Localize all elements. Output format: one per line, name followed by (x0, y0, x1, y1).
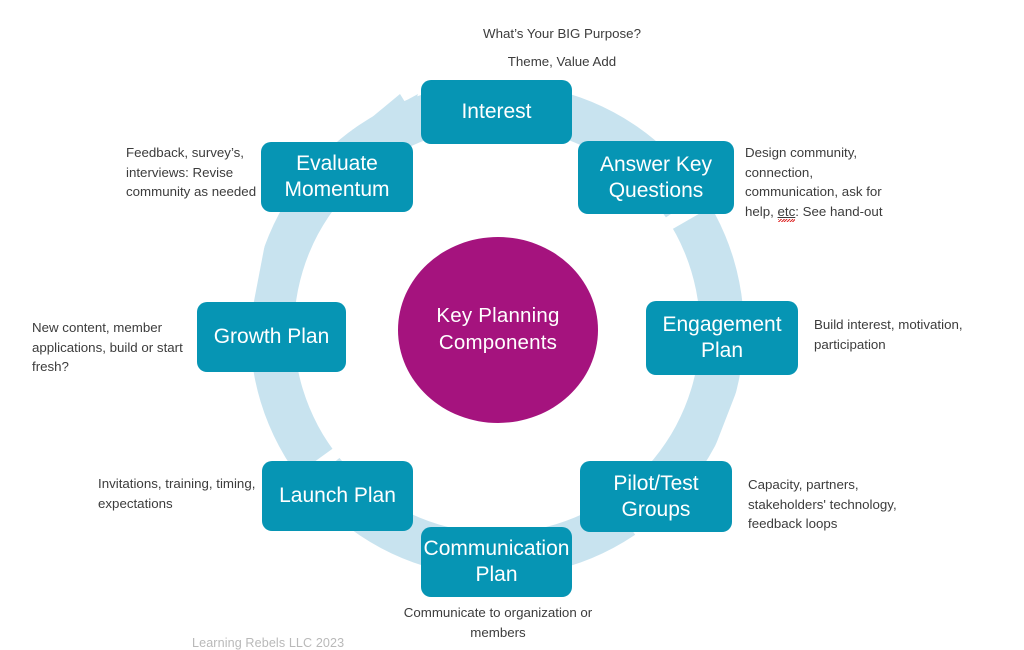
annotation-pilot-line3: feedback loops (748, 514, 928, 534)
node-communication-line1: Communication (424, 537, 570, 560)
node-engagement-plan-label: Engagement Plan (662, 312, 781, 363)
node-answer-line1: Answer Key (600, 153, 712, 176)
center-hub-label-line2: Components (439, 331, 557, 354)
node-communication-plan[interactable]: Communication Plan (421, 527, 572, 597)
node-engagement-plan[interactable]: Engagement Plan (646, 301, 798, 375)
center-hub-label: Key Planning Components (436, 303, 559, 356)
annotation-answer-line4-post: : See hand-out (795, 204, 882, 219)
center-hub-label-line1: Key Planning (436, 304, 559, 327)
annotation-growth-line3: fresh? (32, 357, 192, 377)
node-evaluate-momentum-label: Evaluate Momentum (284, 151, 389, 202)
node-interest[interactable]: Interest (421, 80, 572, 144)
annotation-answer-key-questions: Design community, connection, communicat… (745, 143, 915, 221)
annotation-communication-line1: Communicate to organization or (398, 603, 598, 623)
footer-credit: Learning Rebels LLC 2023 (192, 636, 344, 650)
annotation-engagement-plan: Build interest, motivation, participatio… (814, 315, 994, 354)
annotation-pilot-line1: Capacity, partners, (748, 475, 928, 495)
annotation-communication-plan: Communicate to organization or members (398, 603, 598, 642)
node-communication-line2: Plan (475, 563, 517, 586)
node-engagement-line1: Engagement (662, 313, 781, 336)
annotation-evaluate-line1: Feedback, survey’s, (126, 143, 266, 163)
node-engagement-line2: Plan (701, 339, 743, 362)
annotation-answer-line2: connection, (745, 163, 915, 183)
annotation-answer-misspelled-word: etc (778, 204, 796, 219)
annotation-pilot-line2: stakeholders' technology, (748, 495, 928, 515)
node-answer-key-questions-label: Answer Key Questions (600, 152, 712, 203)
annotation-evaluate-line3: community as needed (126, 182, 266, 202)
node-interest-label: Interest (461, 99, 531, 125)
annotation-growth-line1: New content, member (32, 318, 192, 338)
node-answer-line2: Questions (609, 179, 704, 202)
annotation-growth-line2: applications, build or start (32, 338, 192, 358)
annotation-evaluate-line2: interviews: Revise (126, 163, 266, 183)
annotation-engagement-line1: Build interest, motivation, (814, 315, 994, 335)
annotation-interest-line1: What’s Your BIG Purpose? (432, 24, 692, 44)
center-hub: Key Planning Components (398, 237, 598, 423)
node-growth-plan[interactable]: Growth Plan (197, 302, 346, 372)
annotation-interest: What’s Your BIG Purpose? Theme, Value Ad… (432, 24, 692, 71)
node-launch-plan-label: Launch Plan (279, 483, 396, 509)
annotation-answer-line4-pre: help, (745, 204, 778, 219)
annotation-answer-line4: help, etc: See hand-out (745, 202, 915, 222)
diagram-canvas: Key Planning Components Interest Answer … (0, 0, 1024, 650)
annotation-interest-line2: Theme, Value Add (432, 52, 692, 72)
annotation-pilot-test-groups: Capacity, partners, stakeholders' techno… (748, 475, 928, 534)
annotation-growth-plan: New content, member applications, build … (32, 318, 192, 377)
node-pilot-line1: Pilot/Test (613, 472, 698, 495)
node-pilot-test-groups[interactable]: Pilot/Test Groups (580, 461, 732, 532)
annotation-answer-line3: communication, ask for (745, 182, 915, 202)
node-communication-plan-label: Communication Plan (424, 536, 570, 587)
annotation-communication-line2: members (398, 623, 598, 643)
node-evaluate-line1: Evaluate (296, 152, 378, 175)
node-growth-plan-label: Growth Plan (214, 324, 330, 350)
annotation-engagement-line2: participation (814, 335, 994, 355)
node-evaluate-line2: Momentum (284, 178, 389, 201)
annotation-launch-line2: expectations (98, 494, 273, 514)
node-pilot-line2: Groups (622, 498, 691, 521)
node-launch-plan[interactable]: Launch Plan (262, 461, 413, 531)
annotation-evaluate-momentum: Feedback, survey’s, interviews: Revise c… (126, 143, 266, 202)
annotation-launch-line1: Invitations, training, timing, (98, 474, 273, 494)
node-pilot-test-groups-label: Pilot/Test Groups (613, 471, 698, 522)
annotation-answer-line1: Design community, (745, 143, 915, 163)
node-answer-key-questions[interactable]: Answer Key Questions (578, 141, 734, 214)
node-evaluate-momentum[interactable]: Evaluate Momentum (261, 142, 413, 212)
annotation-launch-plan: Invitations, training, timing, expectati… (98, 474, 273, 513)
